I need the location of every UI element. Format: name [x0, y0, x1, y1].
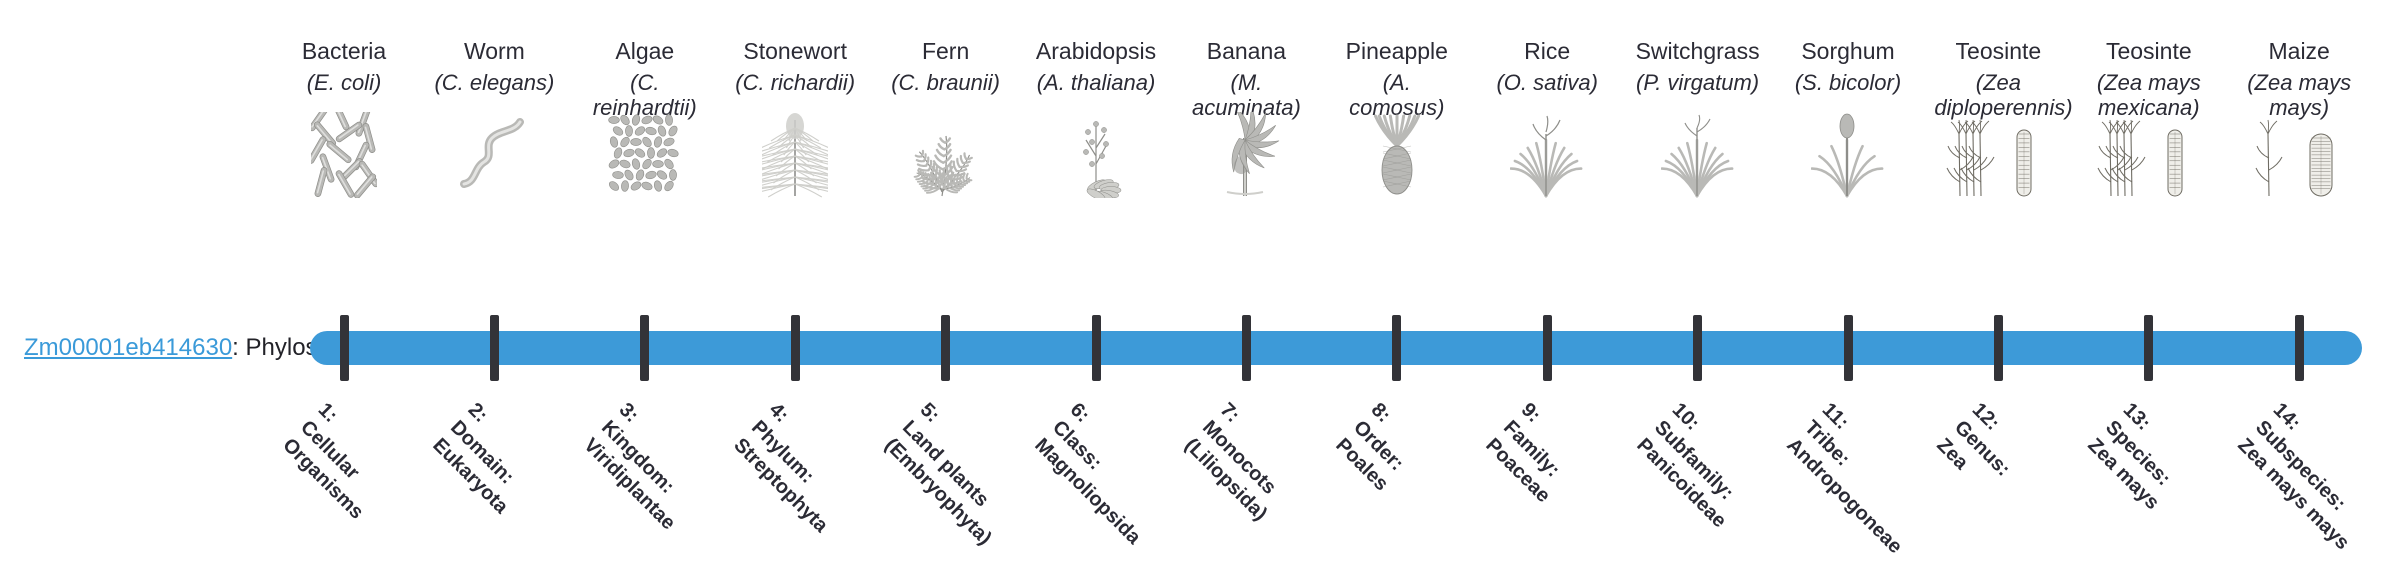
phylostratum-tick — [1543, 315, 1552, 381]
stonewort-icon — [731, 112, 859, 198]
gene-id-link[interactable]: Zm00001eb414630 — [24, 334, 232, 361]
phylostratum-tick — [640, 315, 649, 381]
organism-species-name: (C. elegans) — [430, 70, 558, 95]
organism-species-name: (C. braunii) — [882, 70, 1010, 95]
switchgrass-icon — [1634, 112, 1762, 198]
rice-icon — [1483, 112, 1611, 198]
pineapple-icon — [1333, 112, 1461, 198]
organism-common-name: Teosinte — [1934, 38, 2062, 64]
phylostratum-tick — [340, 315, 349, 381]
organism-common-name: Fern — [882, 38, 1010, 64]
phylostratum-tick — [2144, 315, 2153, 381]
organism-common-name: Arabidopsis — [1032, 38, 1160, 64]
phylostratum-tick — [490, 315, 499, 381]
organism-species-name: (P. virgatum) — [1634, 70, 1762, 95]
organism-species-name: (C. richardii) — [731, 70, 859, 95]
teosinte-icon — [2085, 112, 2213, 198]
organism-common-name: Bacteria — [280, 38, 408, 64]
phylostratum-tick — [2295, 315, 2304, 381]
organism-common-name: Algae — [581, 38, 709, 64]
phylostratum-tick — [1242, 315, 1251, 381]
organism-common-name: Worm — [430, 38, 558, 64]
organism-common-name: Pineapple — [1333, 38, 1461, 64]
organism-common-name: Banana — [1182, 38, 1310, 64]
organism-species-name: (A. thaliana) — [1032, 70, 1160, 95]
maize-icon — [2235, 112, 2363, 198]
organism-common-name: Sorghum — [1784, 38, 1912, 64]
phylostratum-tick — [1392, 315, 1401, 381]
phylostratum-tick — [1693, 315, 1702, 381]
phylostratum-tick — [1994, 315, 2003, 381]
organism-common-name: Teosinte — [2085, 38, 2213, 64]
phylostratum-tick — [1844, 315, 1853, 381]
arabidopsis-icon — [1032, 112, 1160, 198]
organism-common-name: Stonewort — [731, 38, 859, 64]
phylostratum-tick — [791, 315, 800, 381]
fern-icon — [882, 112, 1010, 198]
bacteria-icon — [280, 112, 408, 198]
algae-icon — [581, 112, 709, 198]
organism-species-name: (O. sativa) — [1483, 70, 1611, 95]
organism-common-name: Maize — [2235, 38, 2363, 64]
phylostratum-tick — [1092, 315, 1101, 381]
organism-common-name: Switchgrass — [1634, 38, 1762, 64]
phylostratum-tick — [941, 315, 950, 381]
sorghum-icon — [1784, 112, 1912, 198]
organism-species-name: (S. bicolor) — [1784, 70, 1912, 95]
phylostratum-figure: Zm00001eb414630: Phylostratum 1 Bacteria… — [0, 0, 2400, 580]
banana-icon — [1182, 112, 1310, 198]
teosinte-icon — [1934, 112, 2062, 198]
worm-icon — [430, 112, 558, 198]
organism-common-name: Rice — [1483, 38, 1611, 64]
organism-species-name: (E. coli) — [280, 70, 408, 95]
